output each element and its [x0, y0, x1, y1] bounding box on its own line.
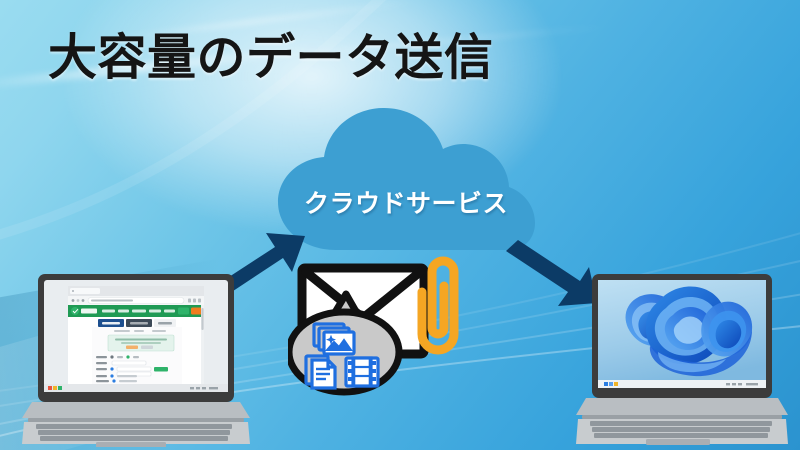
image-files-icon: [314, 324, 354, 354]
login-button: [178, 308, 189, 315]
attach-button: [154, 367, 168, 372]
signup-button: [191, 308, 202, 315]
page-scrollbar: [201, 308, 203, 330]
notice-button-2: [141, 346, 153, 350]
video-film-icon: [346, 358, 378, 386]
slide-canvas: 大容量のデータ送信 クラウドサービス: [0, 0, 800, 450]
trackpad: [646, 439, 710, 445]
document-files-icon: [306, 356, 335, 388]
attachment-graphic: [288, 250, 498, 400]
keyboard-keys: [36, 424, 232, 441]
laptop-sender: [22, 272, 250, 447]
trackpad: [96, 442, 166, 447]
notice-button-1: [126, 346, 138, 350]
keyboard-keys: [590, 421, 772, 438]
browser-window: [68, 286, 204, 384]
laptop-receiver: [576, 272, 788, 447]
